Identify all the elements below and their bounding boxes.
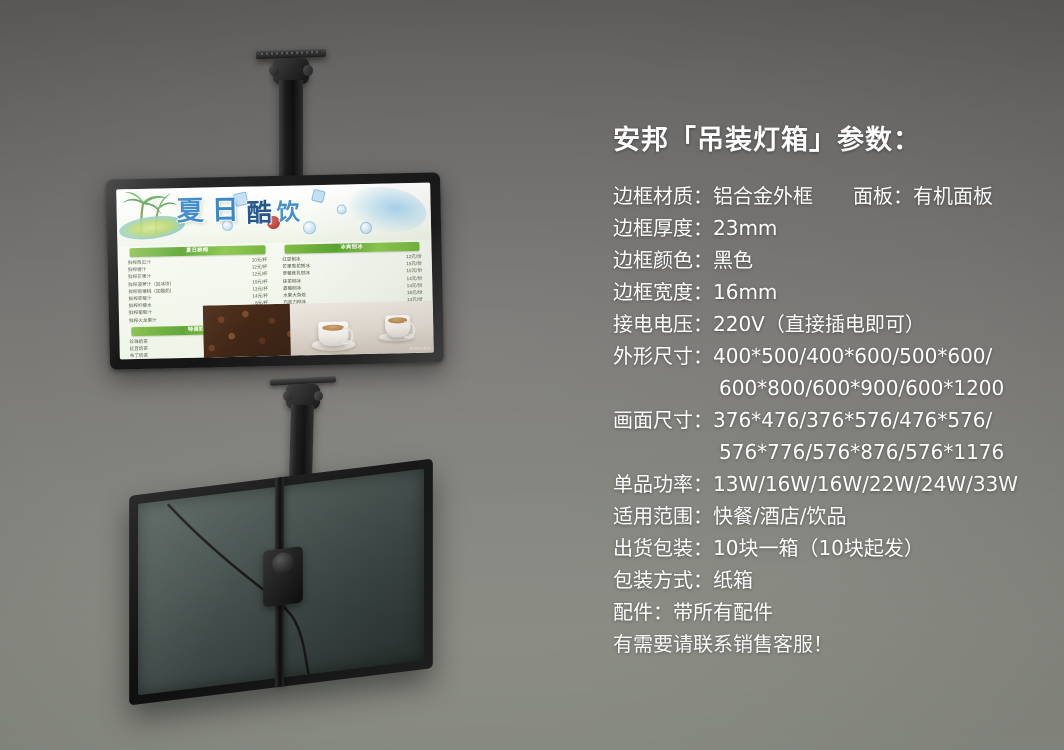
ice-cube-icon: [311, 189, 326, 204]
spec-line: 边框颜色：黑色: [613, 244, 1037, 276]
spec-line: 边框厚度：23mm: [613, 212, 1037, 244]
menu-section-title: 冰爽刨冰: [284, 242, 420, 254]
bubble-icon: [337, 204, 347, 214]
spec-line: 画面尺寸：376*476/376*576/476*576/: [613, 404, 1037, 436]
menu-listing: 夏日鲜榨鲜榨西瓜汁10元/杯鲜榨橙汁12元/杯鲜榨芒果汁12元/杯鲜榨菠萝汁（加…: [117, 240, 433, 360]
light-box-back-unit: [129, 459, 433, 706]
menu-title-char-3: 酷: [246, 200, 272, 226]
spec-line: 边框材质：铝合金外框 面板：有机面板: [613, 180, 1037, 212]
menu-section-title: 夏日鲜榨: [129, 245, 265, 257]
spec-line: 576*776/576*876/576*1176: [613, 436, 1037, 468]
water-splash-illustration: [346, 183, 429, 236]
bubble-icon: [303, 221, 316, 234]
mount-pole: [279, 80, 303, 180]
bubble-icon: [360, 222, 372, 234]
spec-line: 包装方式：纸箱: [613, 564, 1037, 596]
specification-block: 安邦「吊装灯箱」参数： 边框材质：铝合金外框 面板：有机面板边框厚度：23mm边…: [613, 126, 1037, 660]
coffee-photo: 夏日酷饮菜单: [203, 301, 434, 358]
menu-watermark: 夏日酷饮菜单: [409, 347, 431, 352]
light-box-front-unit: 夏 日 酷 饮 夏日鲜榨鲜榨西瓜汁10元/杯鲜榨橙汁12元/杯鲜榨芒果汁12元/…: [106, 172, 444, 369]
menu-section-header: 冰爽刨冰: [284, 242, 420, 254]
spec-line: 600*800/600*900/600*1200: [613, 372, 1037, 404]
menu-title-char-2: 日: [211, 197, 239, 225]
coffee-cup-icon: [385, 315, 410, 338]
spec-line: 单品功率：13W/16W/16W/22W/24W/33W: [613, 468, 1037, 500]
menu-title-char-4: 饮: [276, 201, 299, 224]
spec-line-list: 边框材质：铝合金外框 面板：有机面板边框厚度：23mm边框颜色：黑色边框宽度：1…: [613, 180, 1037, 660]
spec-line: 出货包装：10块一箱（10块起发）: [613, 532, 1037, 564]
spec-line: 接电电压：220V（直接插电即可）: [613, 308, 1037, 340]
menu-header-artwork: 夏 日 酷 饮: [116, 183, 431, 247]
spec-line: 外形尺寸：400*500/400*600/500*600/: [613, 340, 1037, 372]
spec-line: 配件：带所有配件: [613, 596, 1037, 628]
menu-section-header: 夏日鲜榨: [129, 245, 265, 257]
spec-heading: 安邦「吊装灯箱」参数：: [613, 126, 1037, 156]
coffee-cup-icon: [318, 321, 349, 346]
menu-title-char-1: 夏: [176, 198, 204, 226]
ceiling-mount-bracket: [256, 50, 326, 180]
menu-board-panel: 夏 日 酷 饮 夏日鲜榨鲜榨西瓜汁10元/杯鲜榨橙汁12元/杯鲜榨芒果汁12元/…: [116, 183, 434, 360]
product-photo-scene: 夏 日 酷 饮 夏日鲜榨鲜榨西瓜汁10元/杯鲜榨橙汁12元/杯鲜榨芒果汁12元/…: [0, 0, 1064, 750]
spec-line: 边框宽度：16mm: [613, 276, 1037, 308]
spec-line: 有需要请联系销售客服！: [613, 628, 1037, 660]
spec-line: 适用范围：快餐/酒店/饮品: [613, 500, 1037, 532]
